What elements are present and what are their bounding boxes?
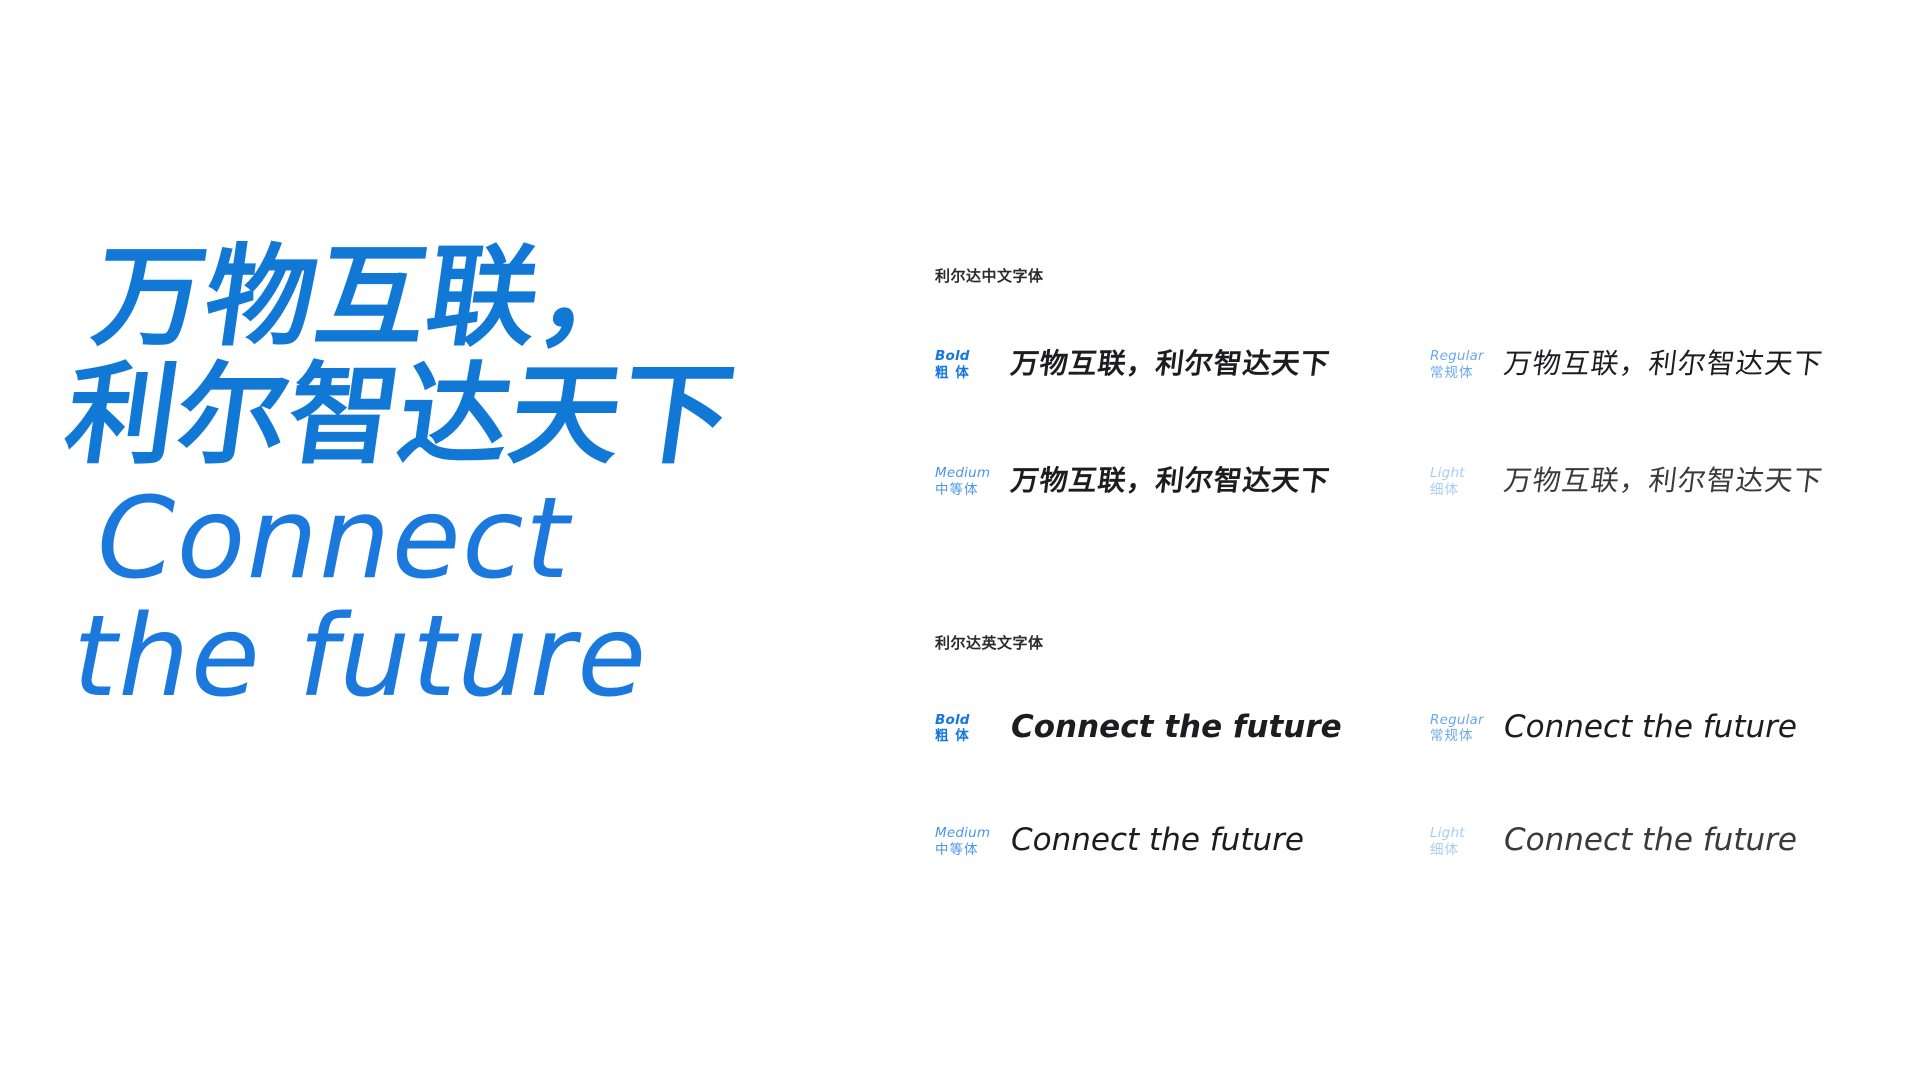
weight-label-en: Light (1430, 825, 1492, 842)
specimen-cell-medium: Medium 中等体 万物互联，利尔智达天下 (935, 459, 1430, 512)
hero-chinese-line-1: 万物互联， (87, 238, 864, 356)
specimen-cell-regular: Regular 常规体 Connect the future (1430, 709, 1865, 759)
section-chinese-typeface: 利尔达中文字体 Bold 粗 体 万物互联，利尔智达天下 Regular 常规体 (935, 265, 1865, 512)
section-title-chinese: 利尔达中文字体 (935, 265, 1865, 286)
sample-text-english-regular: Connect the future (1504, 709, 1865, 745)
weight-label-en: Regular (1430, 712, 1492, 729)
weight-label-en: Medium (935, 825, 997, 842)
weight-label-regular: Regular 常规体 (1430, 712, 1492, 746)
weight-label-cn: 细体 (1430, 842, 1492, 859)
weight-label-en: Medium (935, 465, 997, 482)
weight-label-en: Regular (1430, 348, 1492, 365)
weight-row-group-chinese: Bold 粗 体 万物互联，利尔智达天下 Regular 常规体 万物互联，利尔… (935, 342, 1865, 512)
weight-label-cn: 常规体 (1430, 365, 1492, 382)
weight-label-bold: Bold 粗 体 (935, 712, 997, 746)
font-specimen-page: 万物互联， 利尔智达天下 Connect the future 利尔达中文字体 … (0, 0, 1920, 1080)
weight-label-medium: Medium 中等体 (935, 825, 997, 859)
weight-label-cn: 中等体 (935, 482, 997, 499)
hero-lockup: 万物互联， 利尔智达天下 Connect the future (95, 238, 855, 716)
weight-row: Bold 粗 体 万物互联，利尔智达天下 Regular 常规体 万物互联，利尔… (935, 342, 1865, 395)
specimen-cell-regular: Regular 常规体 万物互联，利尔智达天下 (1430, 342, 1865, 395)
weight-label-cn: 常规体 (1430, 728, 1492, 745)
weight-row-group-english: Bold 粗 体 Connect the future Regular 常规体 … (935, 709, 1865, 873)
weight-label-cn: 粗 体 (935, 365, 997, 382)
specimen-cell-light: Light 细体 万物互联，利尔智达天下 (1430, 459, 1865, 512)
sample-text-chinese-regular: 万物互联，利尔智达天下 (1502, 342, 1868, 382)
weight-row: Medium 中等体 Connect the future Light 细体 C… (935, 822, 1865, 872)
hero-chinese-line-2: 利尔智达天下 (59, 356, 864, 474)
hero-english-line-1: Connect (97, 480, 855, 598)
specimen-cell-light: Light 细体 Connect the future (1430, 822, 1865, 872)
section-english-typeface: 利尔达英文字体 Bold 粗 体 Connect the future Regu… (935, 632, 1865, 873)
weight-label-cn: 中等体 (935, 842, 997, 859)
sample-text-english-bold: Connect the future (1011, 709, 1430, 745)
weight-label-en: Light (1430, 465, 1492, 482)
hero-english-line-2: the future (73, 598, 855, 716)
specimen-cell-medium: Medium 中等体 Connect the future (935, 822, 1430, 872)
weight-row: Bold 粗 体 Connect the future Regular 常规体 … (935, 709, 1865, 759)
sample-text-chinese-medium: 万物互联，利尔智达天下 (1009, 459, 1433, 499)
weight-label-en: Bold (935, 712, 997, 729)
weight-label-medium: Medium 中等体 (935, 465, 997, 499)
specimen-cell-bold: Bold 粗 体 Connect the future (935, 709, 1430, 759)
weight-label-en: Bold (935, 348, 997, 365)
sample-text-chinese-light: 万物互联，利尔智达天下 (1502, 459, 1868, 499)
sample-text-english-medium: Connect the future (1011, 822, 1430, 858)
sample-text-chinese-bold: 万物互联，利尔智达天下 (1009, 342, 1433, 382)
weight-row: Medium 中等体 万物互联，利尔智达天下 Light 细体 万物互联，利尔智… (935, 459, 1865, 512)
weight-label-regular: Regular 常规体 (1430, 348, 1492, 382)
weight-label-cn: 细体 (1430, 482, 1492, 499)
specimen-cell-bold: Bold 粗 体 万物互联，利尔智达天下 (935, 342, 1430, 395)
weight-label-light: Light 细体 (1430, 465, 1492, 499)
specimen-panel: 利尔达中文字体 Bold 粗 体 万物互联，利尔智达天下 Regular 常规体 (935, 265, 1865, 872)
section-title-english: 利尔达英文字体 (935, 632, 1865, 653)
weight-label-cn: 粗 体 (935, 728, 997, 745)
weight-label-bold: Bold 粗 体 (935, 348, 997, 382)
sample-text-english-light: Connect the future (1504, 822, 1865, 858)
weight-label-light: Light 细体 (1430, 825, 1492, 859)
